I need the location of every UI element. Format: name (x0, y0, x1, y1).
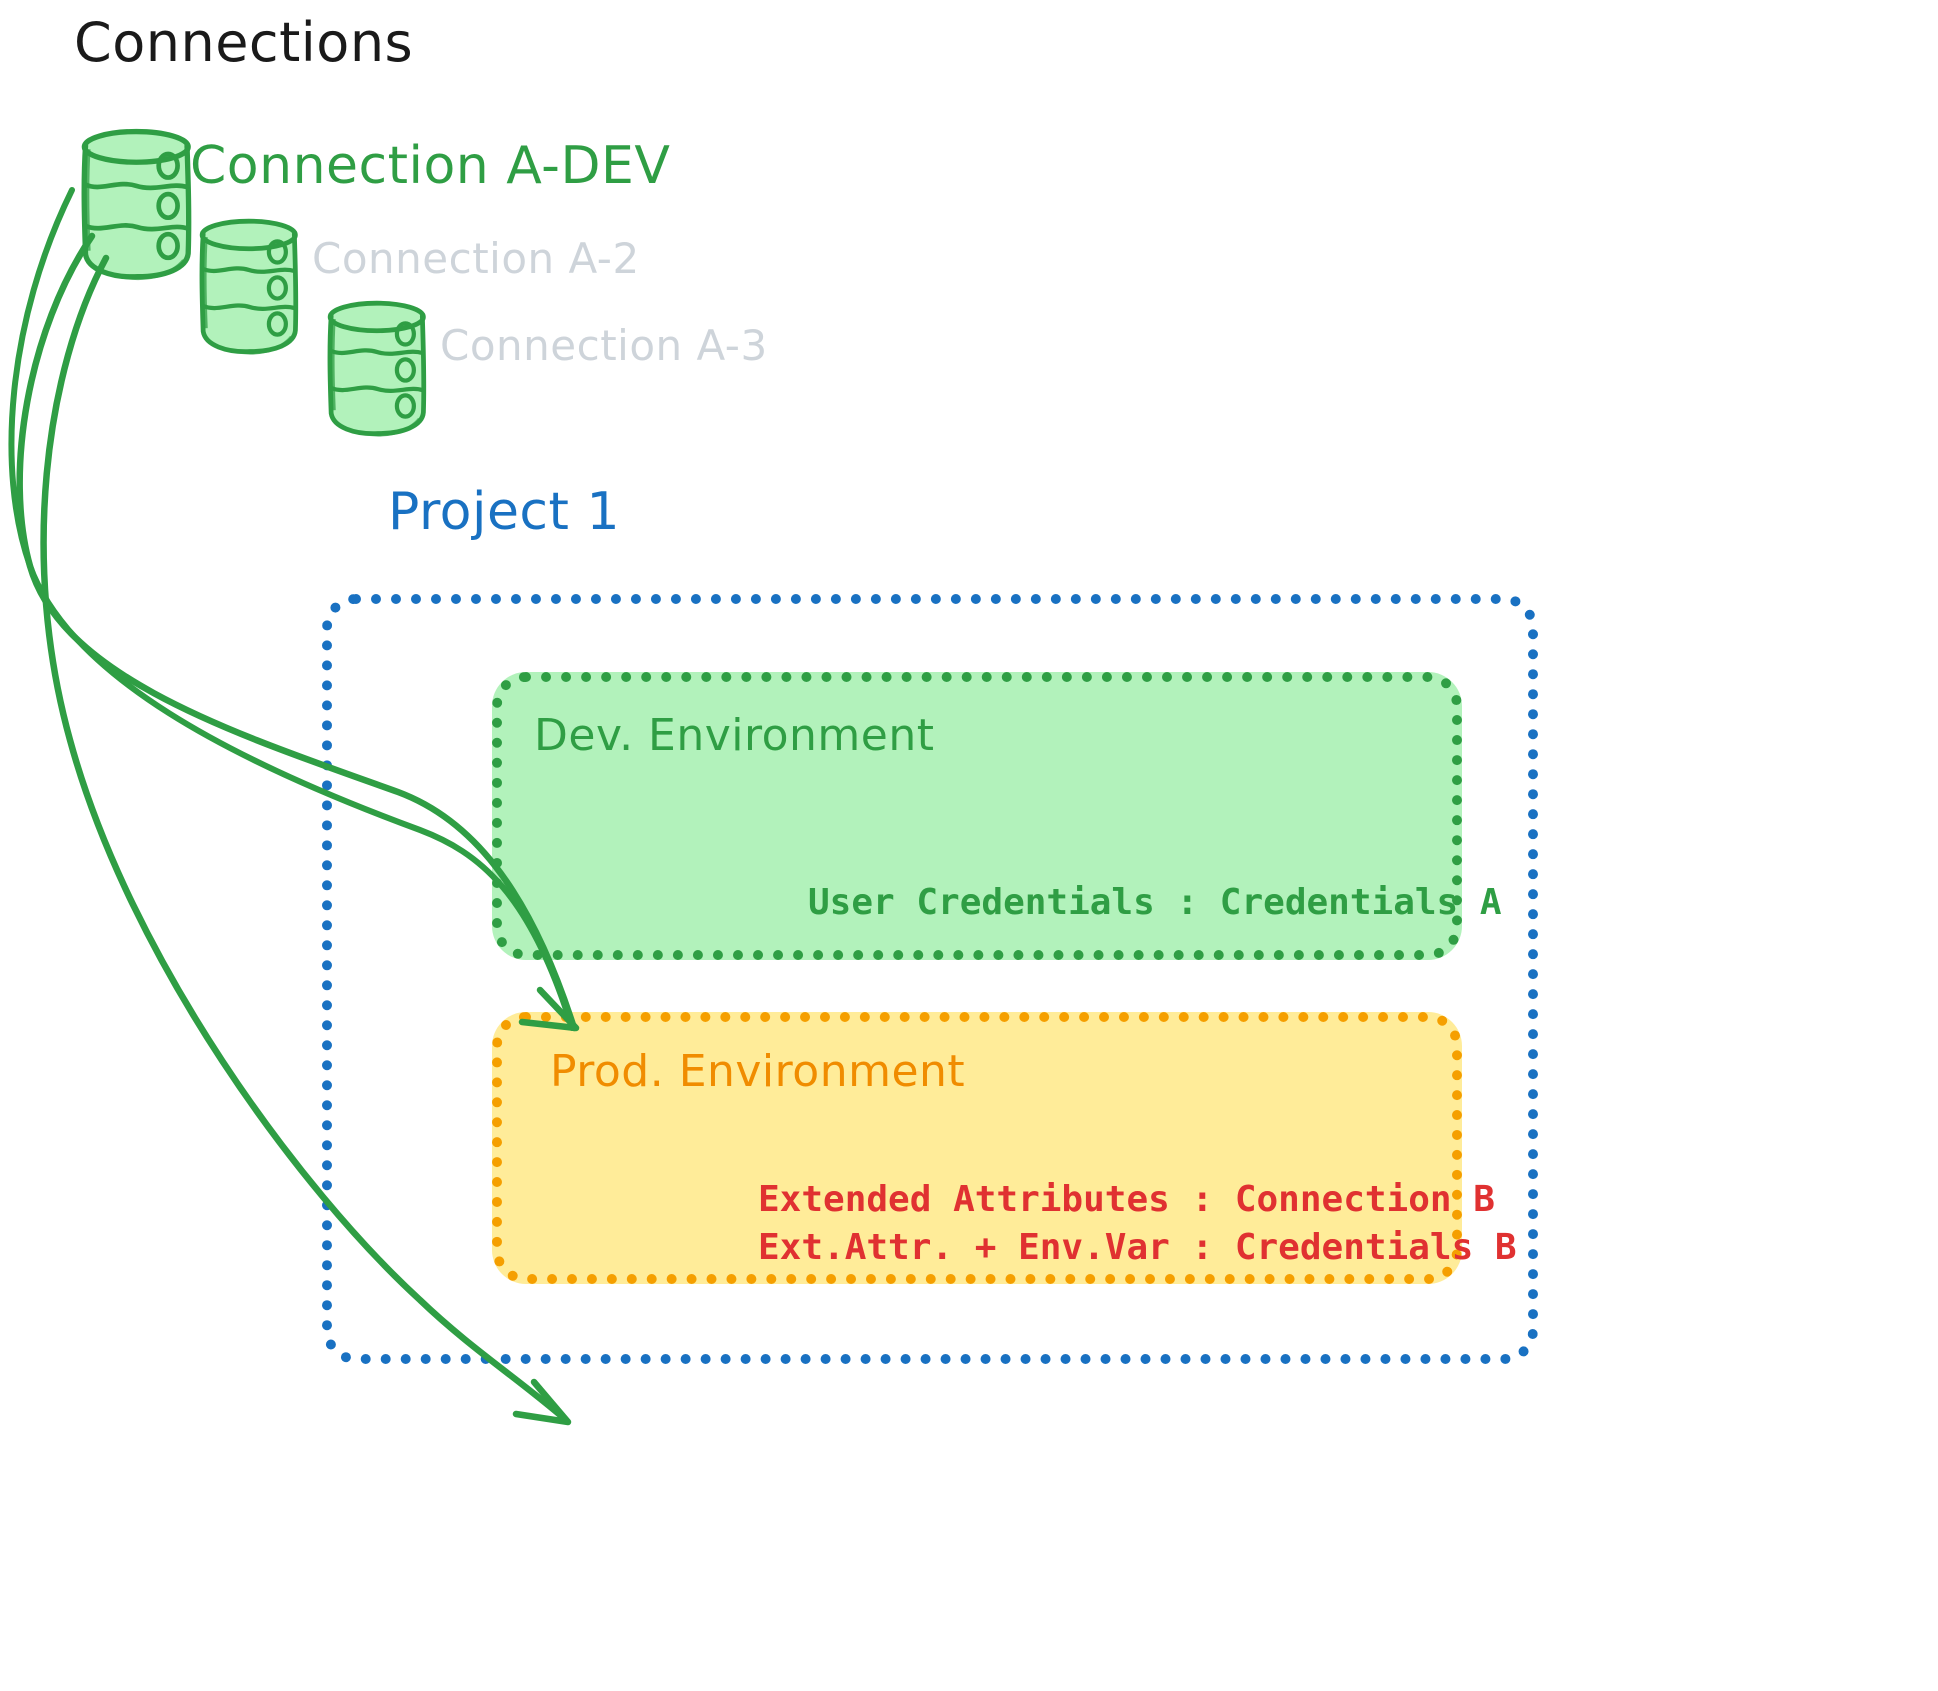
connection-label-a-3[interactable]: Connection A-3 (440, 325, 768, 367)
diagram-canvas: Connections Connection A-DEV Connection … (0, 0, 1938, 1691)
connection-label-a-dev[interactable]: Connection A-DEV (190, 140, 670, 192)
page-title: Connections (74, 16, 413, 70)
prod-environment-line-extended-attributes: Extended Attributes : Connection B (758, 1182, 1495, 1218)
prod-environment-line-env-var: Ext.Attr. + Env.Var : Credentials B (758, 1230, 1517, 1266)
connection-label-a-2[interactable]: Connection A-2 (312, 238, 640, 280)
prod-environment-title: Prod. Environment (550, 1050, 965, 1094)
dev-environment-credentials-line: User Credentials : Credentials A (808, 885, 1502, 921)
database-cylinder-icon (202, 221, 296, 353)
database-cylinder-icon (84, 132, 189, 279)
dev-environment-title: Dev. Environment (534, 714, 935, 758)
database-cylinder-icon (330, 303, 424, 435)
project-title: Project 1 (388, 486, 620, 538)
